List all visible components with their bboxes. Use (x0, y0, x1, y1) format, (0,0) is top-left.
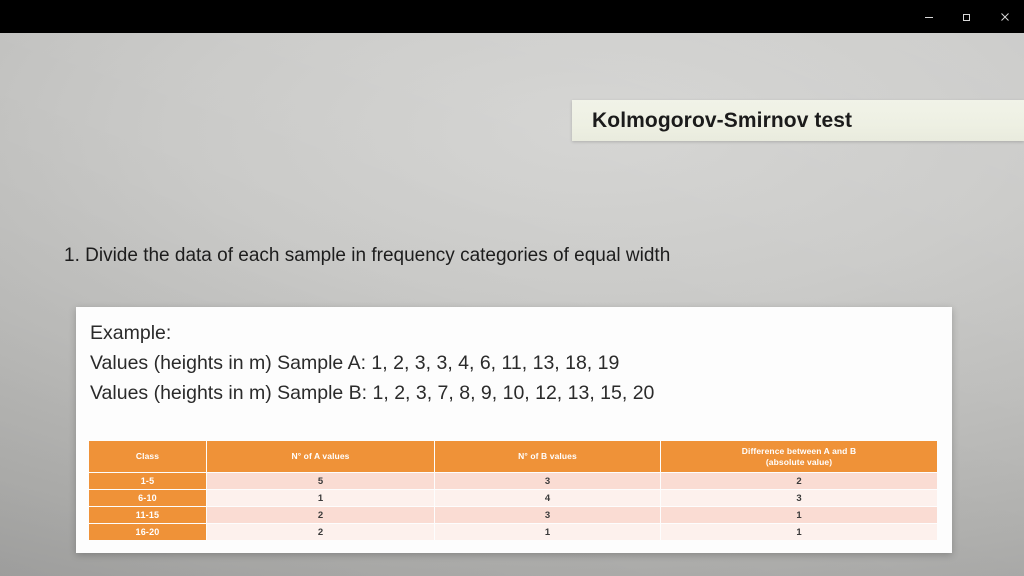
header-class: Class (89, 441, 206, 472)
cell-class: 6-10 (89, 490, 206, 506)
window-titlebar (0, 0, 1024, 33)
example-text-block: Example: Values (heights in m) Sample A:… (90, 318, 654, 408)
example-heading: Example: (90, 318, 654, 348)
table-header-row: Class N° of A values N° of B values Diff… (89, 441, 937, 472)
page-title: Kolmogorov-Smirnov test (572, 109, 852, 133)
frequency-table: Class N° of A values N° of B values Diff… (88, 440, 938, 541)
cell-a-value: 2 (207, 524, 434, 540)
cell-a-value: 5 (207, 473, 434, 489)
close-button[interactable] (986, 3, 1024, 30)
slide-title-banner: Kolmogorov-Smirnov test (572, 100, 1024, 141)
cell-class: 1-5 (89, 473, 206, 489)
cell-b-value: 4 (435, 490, 660, 506)
slide-canvas: Kolmogorov-Smirnov test 1. Divide the da… (0, 33, 1024, 576)
header-difference-line1: Difference between A and B (665, 446, 933, 457)
example-sample-a: Values (heights in m) Sample A: 1, 2, 3,… (90, 348, 654, 378)
table-row: 11-15 2 3 1 (89, 507, 937, 523)
cell-difference: 1 (661, 507, 937, 523)
cell-difference: 3 (661, 490, 937, 506)
table-row: 1-5 5 3 2 (89, 473, 937, 489)
cell-a-value: 2 (207, 507, 434, 523)
step-instruction: 1. Divide the data of each sample in fre… (64, 245, 670, 267)
example-sample-b: Values (heights in m) Sample B: 1, 2, 3,… (90, 378, 654, 408)
cell-b-value: 3 (435, 507, 660, 523)
table-row: 16-20 2 1 1 (89, 524, 937, 540)
cell-class: 16-20 (89, 524, 206, 540)
cell-class: 11-15 (89, 507, 206, 523)
cell-b-value: 3 (435, 473, 660, 489)
restore-button[interactable] (948, 3, 986, 30)
cell-difference: 2 (661, 473, 937, 489)
cell-b-value: 1 (435, 524, 660, 540)
cell-difference: 1 (661, 524, 937, 540)
header-difference-line2: (absolute value) (665, 457, 933, 468)
header-b-values: N° of B values (435, 441, 660, 472)
minimize-button[interactable] (910, 3, 948, 30)
table-row: 6-10 1 4 3 (89, 490, 937, 506)
example-card: Example: Values (heights in m) Sample A:… (76, 307, 952, 553)
header-a-values: N° of A values (207, 441, 434, 472)
cell-a-value: 1 (207, 490, 434, 506)
presentation-window: Kolmogorov-Smirnov test 1. Divide the da… (0, 0, 1024, 576)
header-difference: Difference between A and B (absolute val… (661, 441, 937, 472)
